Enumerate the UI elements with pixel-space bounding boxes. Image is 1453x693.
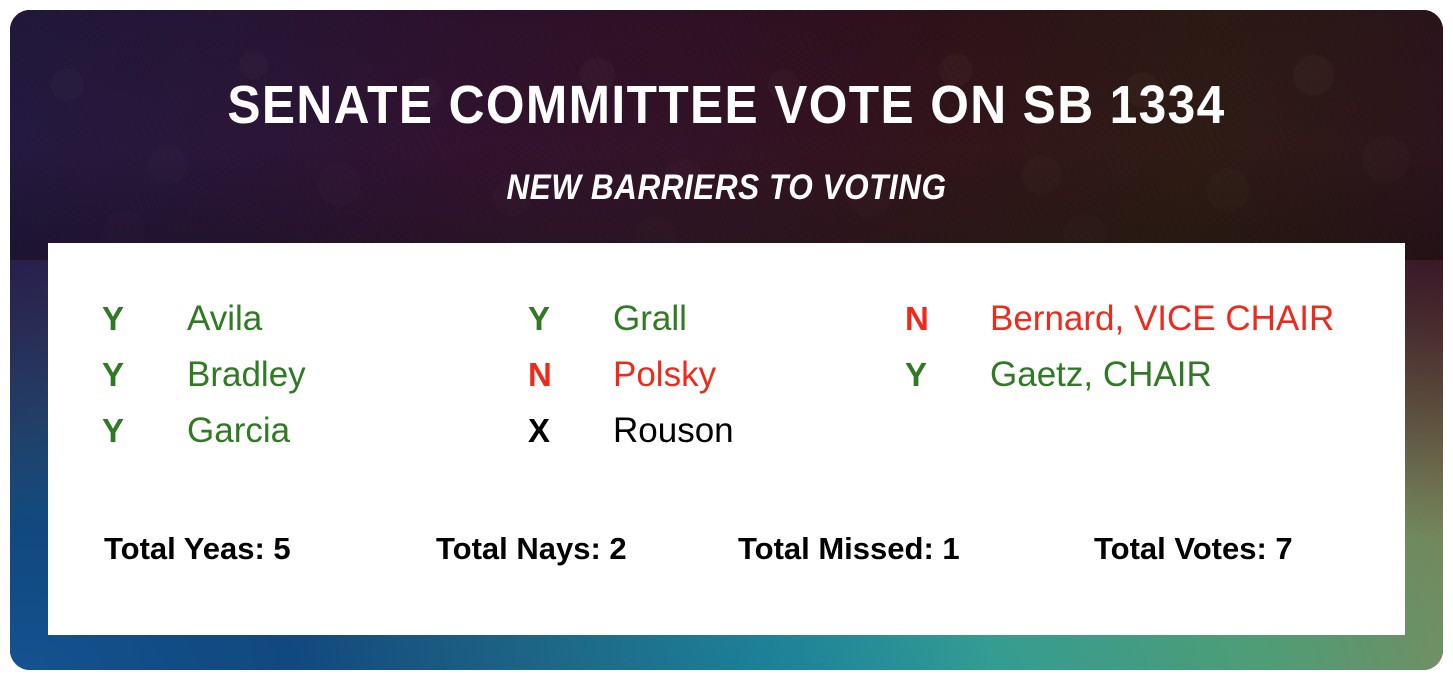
vote-row: Y Gaetz, CHAIR	[905, 357, 1334, 413]
total-yeas: Total Yeas: 5	[104, 533, 291, 564]
page-title: SENATE COMMITTEE VOTE ON SB 1334	[67, 78, 1385, 132]
total-missed: Total Missed: 1	[738, 533, 960, 564]
vote-row: Y Avila	[102, 301, 306, 357]
header-banner: SENATE COMMITTEE VOTE ON SB 1334 NEW BAR…	[10, 10, 1443, 253]
page-subtitle: NEW BARRIERS TO VOTING	[82, 170, 1372, 205]
vote-row: N Bernard, VICE CHAIR	[905, 301, 1334, 357]
vote-row: Y Grall	[528, 301, 734, 357]
legislator-name: Garcia	[187, 413, 290, 448]
vote-row: Y Bradley	[102, 357, 306, 413]
total-nays: Total Nays: 2	[436, 533, 627, 564]
vote-mark: X	[528, 414, 613, 447]
vote-mark: Y	[102, 414, 187, 447]
vote-mark: N	[905, 302, 990, 335]
vote-column-3: N Bernard, VICE CHAIR Y Gaetz, CHAIR	[905, 301, 1334, 413]
vote-column-1: Y Avila Y Bradley Y Garcia	[102, 301, 306, 469]
total-votes: Total Votes: 7	[1094, 533, 1293, 564]
legislator-name: Grall	[613, 301, 687, 336]
legislator-name: Avila	[187, 301, 262, 336]
legislator-name: Bernard, VICE CHAIR	[990, 301, 1334, 336]
vote-mark: Y	[905, 358, 990, 391]
vote-row: N Polsky	[528, 357, 734, 413]
vote-row: Y Garcia	[102, 413, 306, 469]
vote-mark: Y	[528, 302, 613, 335]
vote-mark: Y	[102, 358, 187, 391]
vote-row: X Rouson	[528, 413, 734, 469]
vote-mark: Y	[102, 302, 187, 335]
vote-totals-row: Total Yeas: 5 Total Nays: 2 Total Missed…	[48, 533, 1405, 583]
vote-mark: N	[528, 358, 613, 391]
legislator-name: Polsky	[613, 357, 716, 392]
legislator-name: Bradley	[187, 357, 306, 392]
legislator-name: Gaetz, CHAIR	[990, 357, 1212, 392]
vote-graphic-card: SENATE COMMITTEE VOTE ON SB 1334 NEW BAR…	[10, 10, 1443, 670]
vote-column-2: Y Grall N Polsky X Rouson	[528, 301, 734, 469]
legislator-name: Rouson	[613, 413, 734, 448]
vote-results-card: Y Avila Y Bradley Y Garcia Y Grall	[48, 243, 1405, 635]
